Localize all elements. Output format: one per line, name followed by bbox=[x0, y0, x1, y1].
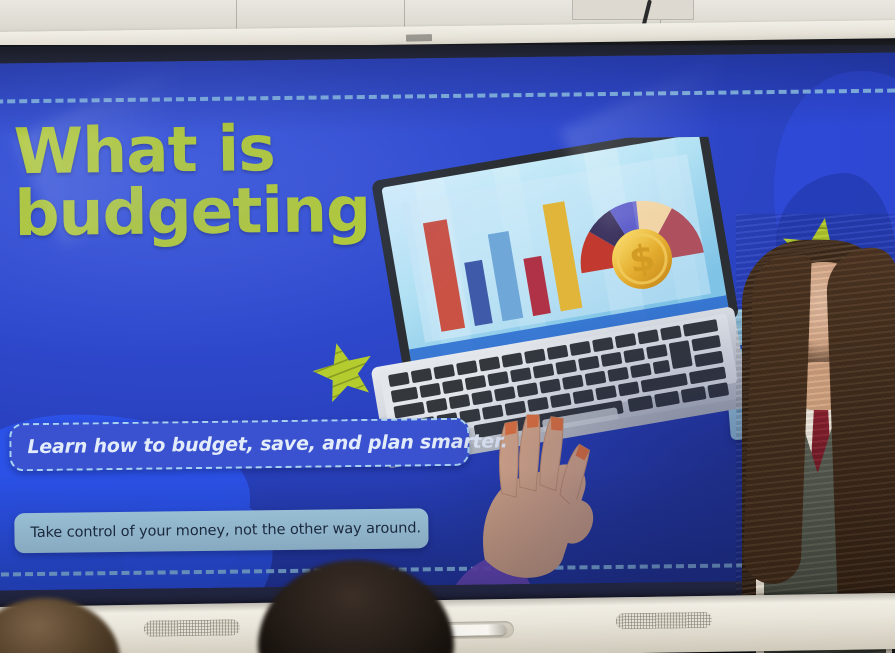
speaker-grille-right bbox=[616, 612, 712, 630]
callout-secondary-text: Take control of your money, not the othe… bbox=[30, 520, 421, 541]
student-presenter bbox=[736, 214, 895, 653]
callout-secondary[interactable]: Take control of your money, not the othe… bbox=[14, 508, 428, 553]
student-hair-front-right bbox=[825, 247, 895, 629]
screenshot-root: What is budgeting? DG bbox=[0, 0, 895, 653]
speaker-grille-left bbox=[144, 619, 240, 637]
student-hair-front-left bbox=[742, 253, 811, 585]
panel-brand-logo bbox=[406, 34, 432, 42]
slide-dashed-border-top bbox=[0, 89, 895, 104]
callout-primary-text: Learn how to budget, save, and plan smar… bbox=[27, 430, 507, 458]
ceiling-mount-bracket bbox=[572, 0, 694, 20]
callout-primary[interactable]: Learn how to budget, save, and plan smar… bbox=[9, 418, 470, 472]
